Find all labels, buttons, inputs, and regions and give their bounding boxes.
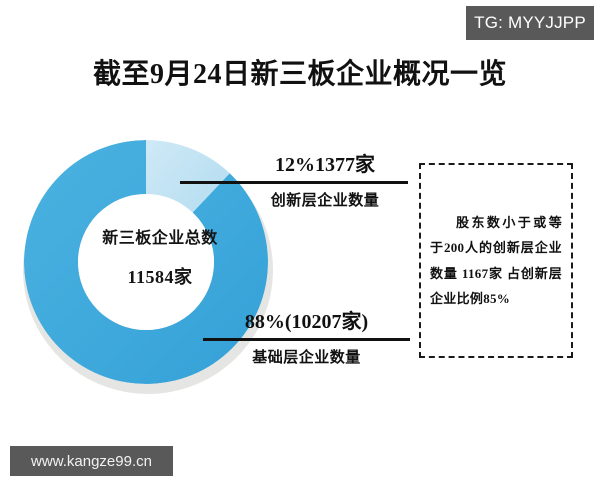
- infographic-canvas: TG: MYYJJPP 截至9月24日新三板企业概况一览: [0, 0, 600, 480]
- callout-innovation-layer: 12%1377家 创新层企业数量: [180, 148, 408, 210]
- donut-hole: [78, 194, 214, 330]
- tg-watermark-badge: TG: MYYJJPP: [466, 6, 594, 40]
- callout-innovation-value: 12%1377家: [180, 148, 408, 177]
- callout-base-layer: 88%(10207家) 基础层企业数量: [203, 305, 410, 367]
- callout-base-value: 88%(10207家): [203, 305, 410, 334]
- callout-innovation-name: 创新层企业数量: [180, 189, 408, 210]
- note-box: 股东数小于或等于200人的创新层企业数量 1167家 占创新层企业比例85%: [419, 163, 573, 358]
- site-watermark: www.kangze99.cn: [10, 446, 173, 476]
- callout-innovation-rule: [180, 181, 408, 184]
- callout-base-rule: [203, 338, 410, 341]
- page-title: 截至9月24日新三板企业概况一览: [0, 52, 600, 92]
- callout-base-name: 基础层企业数量: [203, 346, 410, 367]
- note-box-text: 股东数小于或等于200人的创新层企业数量 1167家 占创新层企业比例85%: [421, 210, 571, 311]
